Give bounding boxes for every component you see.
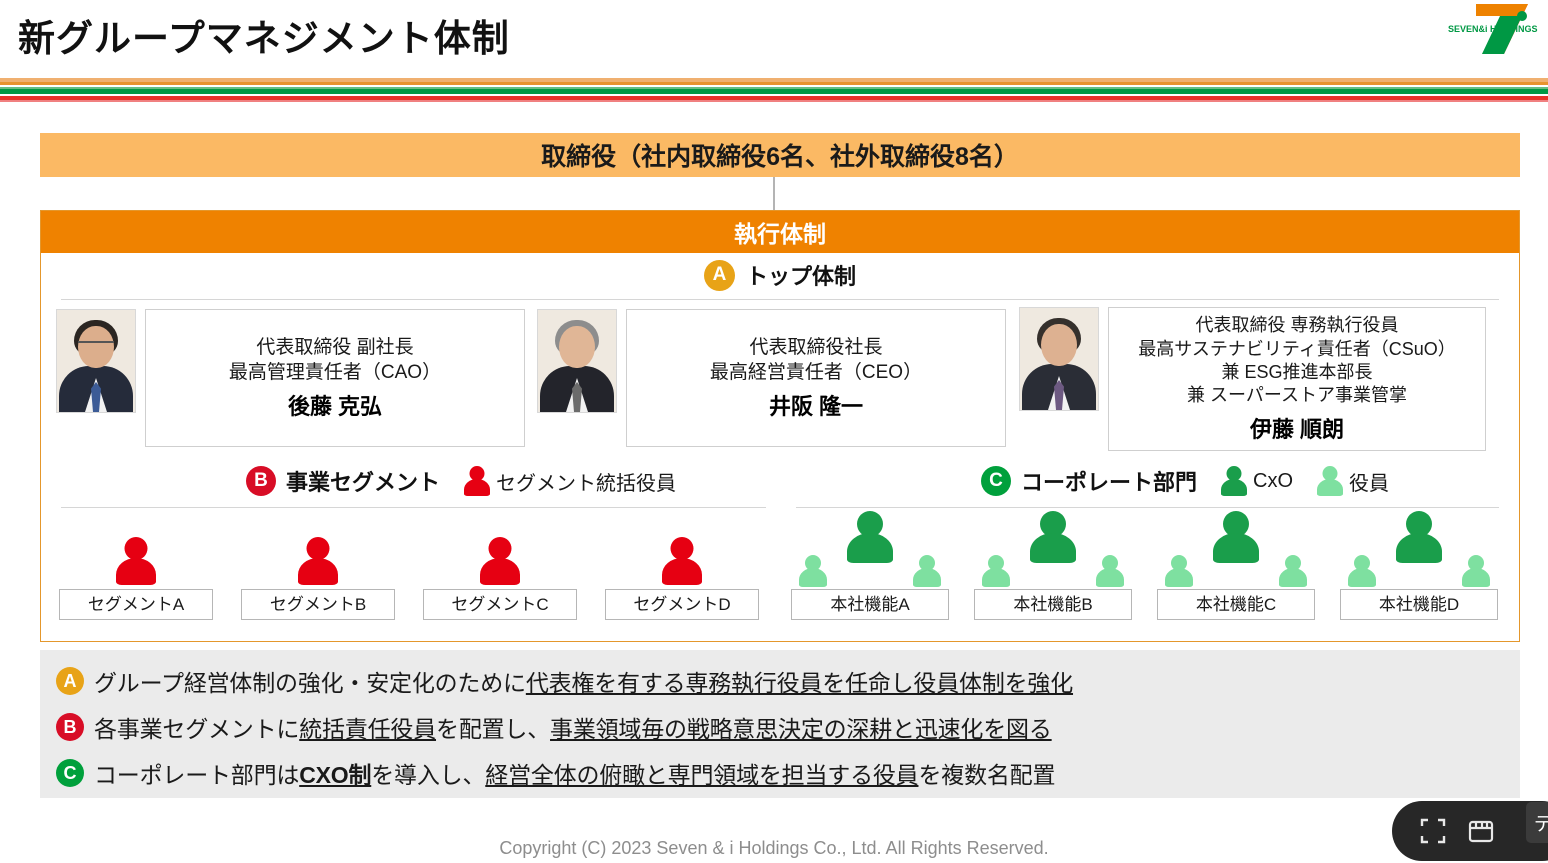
segment-label: セグメントB bbox=[241, 589, 395, 620]
corporate-icon-wrap bbox=[791, 511, 949, 589]
legend-label: 役員 bbox=[1349, 467, 1389, 496]
segment-label: セグメントD bbox=[605, 589, 759, 620]
executive-title-line: 兼 ESG推進本部長 bbox=[1221, 361, 1372, 384]
corporate-label: 本社機能D bbox=[1340, 589, 1498, 620]
note-b-plain-1: 各事業セグメントに bbox=[94, 716, 299, 742]
person-icon bbox=[1279, 555, 1307, 587]
copyright-text: Copyright (C) 2023 Seven & i Holdings Co… bbox=[0, 838, 1548, 859]
layout-grid-icon[interactable] bbox=[1466, 816, 1496, 846]
note-b: B 各事業セグメントに統括責任役員を配置し、事業領域毎の戦略意思決定の深耕と迅速… bbox=[56, 710, 1052, 744]
person-icon bbox=[662, 537, 702, 585]
svg-text:SEVEN&i HOLDINGS: SEVEN&i HOLDINGS bbox=[1448, 24, 1538, 34]
segment-icon-wrap bbox=[59, 511, 213, 589]
corporate-node-b[interactable]: 本社機能B bbox=[974, 511, 1132, 620]
person-icon bbox=[1462, 555, 1490, 587]
executive-title-line: 最高経営責任者（CEO） bbox=[710, 360, 922, 385]
segment-icon-wrap bbox=[423, 511, 577, 589]
executive-info-csuo: 代表取締役 専務執行役員 最高サステナビリティ責任者（CSuO） 兼 ESG推進… bbox=[1108, 307, 1486, 451]
note-c-bold-underline: CXO制 bbox=[299, 762, 371, 788]
section-bc-headers: B 事業セグメント セグメント統括役員 C コーポレート部門 bbox=[41, 463, 1519, 509]
section-c-label: コーポレート部門 bbox=[1021, 465, 1197, 497]
segment-node-b[interactable]: セグメントB bbox=[241, 511, 395, 620]
note-c-text: コーポレート部門はCXO制を導入し、経営全体の俯瞰と専門領域を担当する役員を複数… bbox=[94, 756, 1055, 790]
section-a-header: A トップ体制 bbox=[41, 259, 1519, 291]
notes-panel: A グループ経営体制の強化・安定化のために代表権を有する専務執行役員を任命し役員… bbox=[40, 650, 1520, 798]
note-c-plain-2: を導入し、 bbox=[371, 762, 485, 788]
execution-structure-frame: 執行体制 A トップ体制 代表取締役 副社長 最高管理責任者（CAO） 後藤 bbox=[40, 210, 1520, 642]
executive-info-ceo: 代表取締役社長 最高経営責任者（CEO） 井阪 隆一 bbox=[626, 309, 1006, 447]
segment-node-c[interactable]: セグメントC bbox=[423, 511, 577, 620]
badge-b-icon: B bbox=[56, 713, 84, 741]
stripe-red-light bbox=[0, 100, 1548, 102]
person-icon bbox=[1348, 555, 1376, 587]
executive-photo-cao bbox=[56, 309, 136, 413]
player-tooltip: デス bbox=[1526, 802, 1548, 843]
person-icon bbox=[1030, 511, 1076, 563]
board-of-directors-banner: 取締役（社内取締役6名、社外取締役8名） bbox=[40, 133, 1520, 177]
person-icon bbox=[1396, 511, 1442, 563]
segment-label: セグメントA bbox=[59, 589, 213, 620]
section-c-divider bbox=[796, 507, 1499, 508]
corporate-icon-wrap bbox=[974, 511, 1132, 589]
person-icon bbox=[1096, 555, 1124, 587]
org-nodes-row: セグメントA セグメントB セグメントC bbox=[41, 511, 1519, 636]
slide-root: 新グループマネジメント体制 SEVEN&i HOLDINGS 取締役（社内取締役… bbox=[0, 0, 1548, 863]
note-b-underline-1: 統括責任役員 bbox=[299, 716, 436, 742]
section-b-label: 事業セグメント bbox=[286, 465, 440, 497]
person-icon bbox=[464, 466, 490, 496]
corporate-node-a[interactable]: 本社機能A bbox=[791, 511, 949, 620]
slide-header: 新グループマネジメント体制 SEVEN&i HOLDINGS bbox=[0, 0, 1548, 78]
executive-info-cao: 代表取締役 副社長 最高管理責任者（CAO） 後藤 克弘 bbox=[145, 309, 525, 447]
executive-title-line: 代表取締役社長 bbox=[749, 335, 882, 360]
segment-label: セグメントC bbox=[423, 589, 577, 620]
note-a-plain: グループ経営体制の強化・安定化のために bbox=[94, 670, 526, 696]
top-executives-group: 代表取締役 副社長 最高管理責任者（CAO） 後藤 克弘 代表取締役社長 bbox=[41, 307, 1519, 459]
segment-icon-wrap bbox=[241, 511, 395, 589]
note-c-plain-1: コーポレート部門は bbox=[94, 762, 299, 788]
segment-node-a[interactable]: セグメントA bbox=[59, 511, 213, 620]
segment-icon-wrap bbox=[605, 511, 759, 589]
fullscreen-icon[interactable] bbox=[1418, 816, 1448, 846]
executive-title-line: 代表取締役 副社長 bbox=[256, 335, 413, 360]
person-icon bbox=[982, 555, 1010, 587]
badge-c-icon: C bbox=[56, 759, 84, 787]
note-c-plain-3: を複数名配置 bbox=[918, 762, 1055, 788]
segment-node-d[interactable]: セグメントD bbox=[605, 511, 759, 620]
note-a-text: グループ経営体制の強化・安定化のために代表権を有する専務執行役員を任命し役員体制… bbox=[94, 664, 1073, 698]
person-icon bbox=[1213, 511, 1259, 563]
person-icon bbox=[1317, 466, 1343, 496]
section-a-label: トップ体制 bbox=[746, 259, 856, 291]
board-banner-label: 取締役（社内取締役6名、社外取締役8名） bbox=[541, 137, 1019, 173]
person-icon bbox=[480, 537, 520, 585]
badge-a-icon: A bbox=[56, 667, 84, 695]
corporate-label: 本社機能C bbox=[1157, 589, 1315, 620]
page-title: 新グループマネジメント体制 bbox=[18, 8, 510, 62]
execution-structure-header: 執行体制 bbox=[41, 211, 1519, 253]
person-icon bbox=[847, 511, 893, 563]
person-icon bbox=[1221, 466, 1247, 496]
section-a-divider bbox=[61, 299, 1499, 300]
badge-b-icon: B bbox=[246, 466, 276, 496]
corporate-label: 本社機能A bbox=[791, 589, 949, 620]
person-icon bbox=[1165, 555, 1193, 587]
executive-title-line: 最高管理責任者（CAO） bbox=[229, 360, 441, 385]
note-c-underline-2: 経営全体の俯瞰と専門領域を担当する役員 bbox=[485, 762, 918, 788]
person-icon bbox=[913, 555, 941, 587]
legend-label: セグメント統括役員 bbox=[496, 467, 676, 496]
executive-title-line: 代表取締役 専務執行役員 bbox=[1196, 314, 1399, 337]
note-b-underline-2: 事業領域毎の戦略意思決定の深耕と迅速化を図る bbox=[550, 716, 1052, 742]
corporate-icon-wrap bbox=[1340, 511, 1498, 589]
executive-card-csuo: 代表取締役 専務執行役員 最高サステナビリティ責任者（CSuO） 兼 ESG推進… bbox=[1019, 307, 1486, 451]
note-a: A グループ経営体制の強化・安定化のために代表権を有する専務執行役員を任命し役員… bbox=[56, 664, 1073, 698]
person-icon bbox=[298, 537, 338, 585]
corporate-icon-wrap bbox=[1157, 511, 1315, 589]
note-a-underline: 代表権を有する専務執行役員を任命し役員体制を強化 bbox=[526, 670, 1073, 696]
note-b-text: 各事業セグメントに統括責任役員を配置し、事業領域毎の戦略意思決定の深耕と迅速化を… bbox=[94, 710, 1052, 744]
corporate-label: 本社機能B bbox=[974, 589, 1132, 620]
corporate-node-d[interactable]: 本社機能D bbox=[1340, 511, 1498, 620]
note-b-plain-2: を配置し、 bbox=[436, 716, 550, 742]
person-icon bbox=[799, 555, 827, 587]
executive-name: 井阪 隆一 bbox=[769, 389, 863, 421]
note-c: C コーポレート部門はCXO制を導入し、経営全体の俯瞰と専門領域を担当する役員を… bbox=[56, 756, 1055, 790]
legend-label: CxO bbox=[1253, 470, 1293, 493]
executive-photo-ceo bbox=[537, 309, 617, 413]
badge-a-icon: A bbox=[704, 260, 735, 291]
seven-and-i-logo: SEVEN&i HOLDINGS bbox=[1442, 2, 1538, 56]
executive-name: 後藤 克弘 bbox=[288, 389, 382, 421]
section-b-header: B 事業セグメント セグメント統括役員 bbox=[246, 465, 676, 497]
legend-officer: 役員 bbox=[1317, 466, 1389, 496]
banner-connector-line bbox=[773, 177, 775, 210]
executive-title-line: 兼 スーパーストア事業管掌 bbox=[1187, 384, 1407, 407]
video-player-controls[interactable]: デス bbox=[1392, 801, 1548, 861]
legend-segment-officer: セグメント統括役員 bbox=[464, 466, 676, 496]
executive-card-cao: 代表取締役 副社長 最高管理責任者（CAO） 後藤 克弘 bbox=[56, 309, 525, 447]
section-b-divider bbox=[61, 507, 766, 508]
executive-photo-csuo bbox=[1019, 307, 1099, 411]
brand-stripe-divider bbox=[0, 78, 1548, 100]
badge-c-icon: C bbox=[981, 466, 1011, 496]
executive-name: 伊藤 順朗 bbox=[1250, 412, 1344, 444]
section-c-header: C コーポレート部門 CxO 役員 bbox=[981, 465, 1389, 497]
executive-card-ceo: 代表取締役社長 最高経営責任者（CEO） 井阪 隆一 bbox=[537, 309, 1006, 447]
legend-cxo: CxO bbox=[1221, 466, 1293, 496]
person-icon bbox=[116, 537, 156, 585]
corporate-node-c[interactable]: 本社機能C bbox=[1157, 511, 1315, 620]
executive-title-line: 最高サステナビリティ責任者（CSuO） bbox=[1138, 338, 1456, 361]
execution-structure-label: 執行体制 bbox=[734, 215, 826, 249]
